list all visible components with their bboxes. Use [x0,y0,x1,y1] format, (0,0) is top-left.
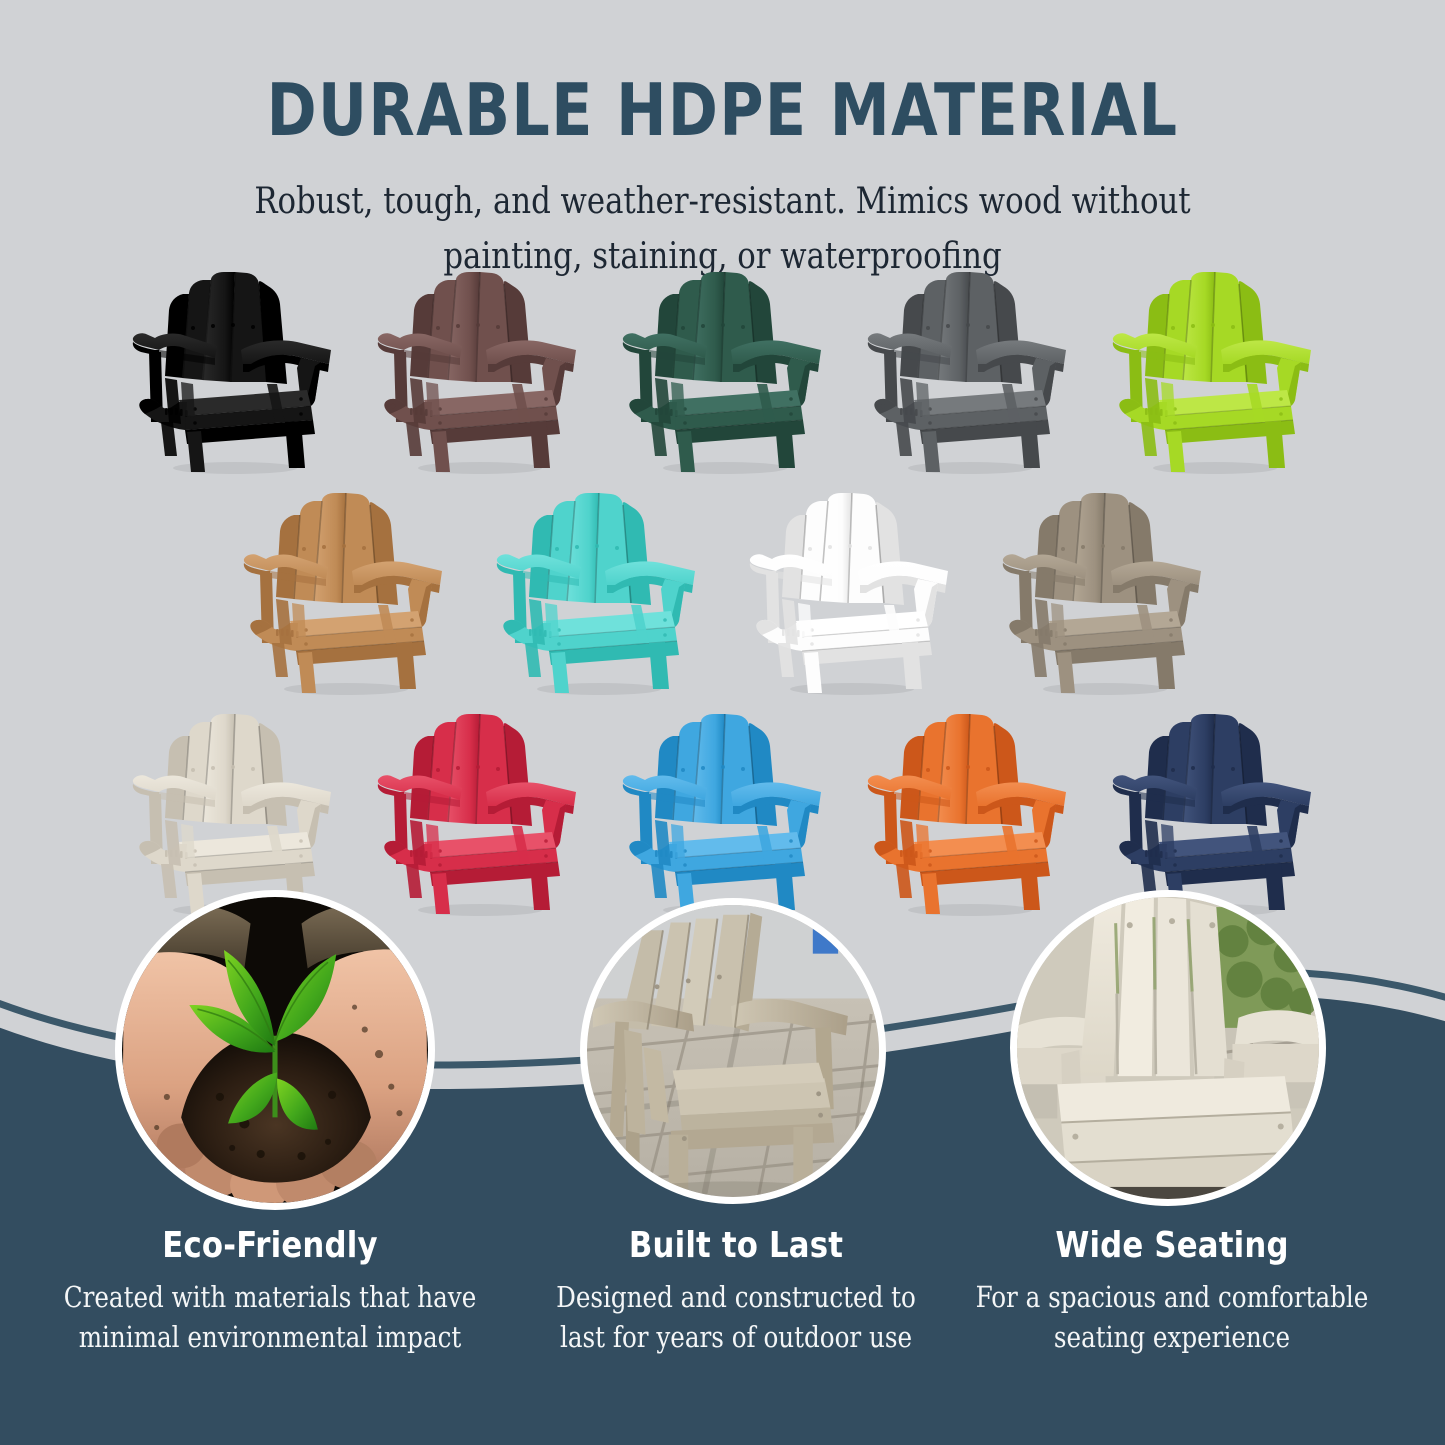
chair-row-3 [0,714,1445,919]
wide-chair-seat-closeup-icon [1017,897,1319,1199]
chair-swatch-red[interactable] [370,714,585,919]
chair-color-grid [0,272,1445,919]
feature-photo-2 [580,898,886,1204]
feature-1-body-line-2: minimal environmental impact [34,1318,506,1358]
chair-back [1145,272,1267,384]
chair-swatch-black[interactable] [125,272,340,477]
feature-3-body-line-1: For a spacious and comfortable [936,1278,1408,1318]
adirondack-chair-on-patio-icon [587,905,879,1197]
feature-caption-1: Eco-Friendly Created with materials that… [24,1228,516,1359]
chair-swatch-lime-green[interactable] [1105,272,1320,477]
chair-swatch-gray[interactable] [860,272,1075,477]
adirondack-chair-svg [125,714,340,919]
feature-2-heading: Built to Last [502,1228,969,1264]
feature-3-heading: Wide Seating [938,1228,1405,1264]
chair-back [165,272,287,384]
chair-swatch-dark-green[interactable] [615,272,830,477]
feature-2-body-line-1: Designed and constructed to [500,1278,972,1318]
adirondack-chair-svg [1105,272,1320,477]
chair-back [900,272,1022,384]
feature-3-body: For a spacious and comfortable seating e… [936,1278,1408,1359]
hands-holding-seedling-icon [122,897,428,1203]
chair-back [276,493,398,605]
feature-photo-3-inner [1017,897,1319,1199]
chair-back [1145,714,1267,826]
feature-caption-3: Wide Seating For a spacious and comforta… [926,1228,1418,1359]
chair-row-2 [0,493,1445,698]
chair-back [655,272,777,384]
feature-caption-2: Built to Last Designed and constructed t… [490,1228,982,1359]
feature-photo-1-inner [122,897,428,1203]
chair-back [900,714,1022,826]
chair-swatch-white[interactable] [742,493,957,698]
adirondack-chair-svg [742,493,957,698]
chair-row-1 [0,272,1445,477]
adirondack-chair-svg [236,493,451,698]
chair-back [655,714,777,826]
adirondack-chair-svg [615,272,830,477]
feature-2-body-line-2: last for years of outdoor use [500,1318,972,1358]
chair-swatch-ivory[interactable] [125,714,340,919]
adirondack-chair-svg [370,272,585,477]
adirondack-chair-svg [489,493,704,698]
adirondack-chair-svg [370,714,585,919]
chair-back [782,493,904,605]
feature-2-body: Designed and constructed to last for yea… [500,1278,972,1359]
chair-back [165,714,287,826]
chair-swatch-turquoise[interactable] [489,493,704,698]
feature-1-body-line-1: Created with materials that have [34,1278,506,1318]
chair-swatch-orange[interactable] [860,714,1075,919]
page-title: DURABLE HDPE MATERIAL [51,74,1395,146]
chair-back [410,714,532,826]
chair-swatch-teak[interactable] [236,493,451,698]
chair-swatch-navy-blue[interactable] [1105,714,1320,919]
adirondack-chair-svg [860,272,1075,477]
feature-3-body-line-2: seating experience [936,1318,1408,1358]
feature-1-body: Created with materials that have minimal… [34,1278,506,1359]
chair-back [529,493,651,605]
adirondack-chair-svg [860,714,1075,919]
subtitle-line-1: Robust, tough, and weather-resistant. Mi… [36,175,1409,230]
chair-back [410,272,532,384]
page-subtitle: Robust, tough, and weather-resistant. Mi… [36,175,1409,284]
adirondack-chair-svg [615,714,830,919]
feature-photo-3 [1010,890,1326,1206]
chair-swatch-blue[interactable] [615,714,830,919]
chair-swatch-brown[interactable] [370,272,585,477]
feature-photo-2-inner [587,905,879,1197]
chair-swatch-weathered-wood[interactable] [995,493,1210,698]
adirondack-chair-svg [995,493,1210,698]
feature-photo-1 [115,890,435,1210]
adirondack-chair-svg [125,272,340,477]
infographic-canvas: DURABLE HDPE MATERIAL Robust, tough, and… [0,0,1445,1445]
adirondack-chair-svg [1105,714,1320,919]
feature-1-heading: Eco-Friendly [36,1228,503,1264]
chair-back [1035,493,1157,605]
